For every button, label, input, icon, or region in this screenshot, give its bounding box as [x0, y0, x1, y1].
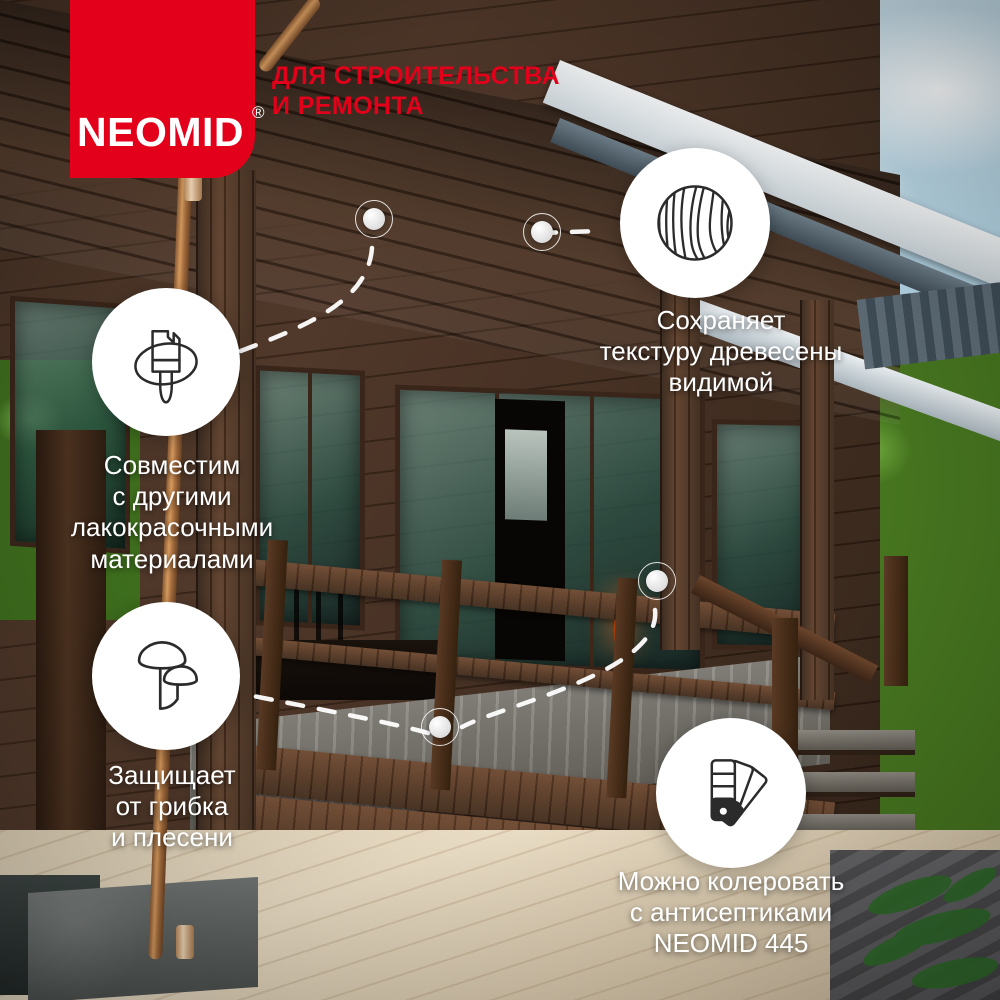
caption-tintable: Можно колеровать с антисептиками NEOMID …	[566, 866, 896, 960]
brand-logo-block[interactable]: NEOMID ®	[70, 0, 255, 178]
marker-dot-2[interactable]	[523, 213, 561, 251]
registered-trademark-icon: ®	[252, 103, 265, 123]
wood-grain-icon-bubble[interactable]	[620, 148, 770, 298]
marker-dot-4[interactable]	[421, 708, 459, 746]
paint-brush-icon-bubble[interactable]	[92, 288, 240, 436]
mushroom-icon	[118, 628, 214, 724]
promo-poster: NEOMID ® ДЛЯ СТРОИТЕЛЬСТВА И РЕМОНТА	[0, 0, 1000, 1000]
brand-name: NEOMID	[77, 109, 244, 155]
caption-fungus-protection: Защищает от грибка и плесени	[42, 760, 302, 854]
caption-paint-compatible: Совместим с другими лакокрасочными матер…	[32, 450, 312, 575]
wood-grain-icon	[647, 175, 743, 271]
marker-dot-1[interactable]	[355, 200, 393, 238]
caption-wood-texture: Сохраняет текстуру древесены видимой	[556, 305, 886, 399]
mushroom-icon-bubble[interactable]	[92, 602, 240, 750]
brand-wordmark: NEOMID ®	[77, 109, 248, 178]
paint-brush-icon	[118, 314, 214, 410]
header-tagline: ДЛЯ СТРОИТЕЛЬСТВА И РЕМОНТА	[272, 62, 692, 121]
color-fan-icon-bubble[interactable]	[656, 718, 806, 868]
color-fan-icon	[683, 745, 779, 841]
tagline-line-1: ДЛЯ СТРОИТЕЛЬСТВА	[272, 62, 692, 92]
marker-dot-3[interactable]	[638, 562, 676, 600]
tagline-line-2: И РЕМОНТА	[272, 92, 692, 122]
